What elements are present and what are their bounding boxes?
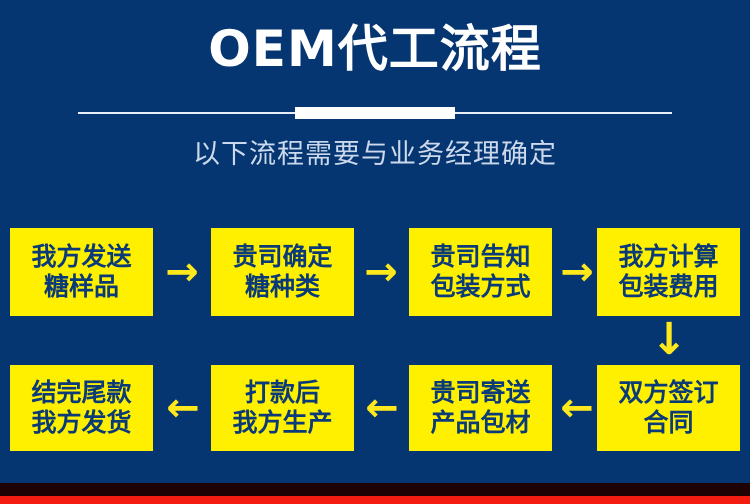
flow-step-4-line2: 包装费用 [618,272,718,302]
arrow-right-icon: → [353,252,409,292]
flow-step-7: 打款后 我方生产 [211,365,354,451]
flow-step-6-line2: 产品包材 [430,408,530,438]
flow-step-4: 我方计算 包装费用 [597,228,740,316]
bottom-dark-band [0,483,750,496]
flow-step-6: 贵司寄送 产品包材 [409,365,552,451]
flow-step-3-line2: 包装方式 [430,272,530,302]
flow-step-8: 结完尾款 我方发货 [10,365,153,451]
arrow-down-icon: ↓ [641,318,697,362]
arrow-left-icon: ← [354,388,410,428]
flow-step-3: 贵司告知 包装方式 [409,228,552,316]
bottom-red-band [0,496,750,504]
flow-step-1-line2: 糖样品 [44,272,119,302]
arrow-left-icon: ← [155,388,211,428]
flow-step-8-line1: 结完尾款 [31,378,131,408]
flow-step-5: 双方签订 合同 [597,365,740,451]
flow-step-7-line1: 打款后 [245,378,320,408]
flow-step-7-line2: 我方生产 [232,408,332,438]
flow-step-5-line2: 合同 [643,408,693,438]
arrow-right-icon: → [154,252,210,292]
divider-accent-bar [295,107,455,119]
flow-step-1-line1: 我方发送 [31,242,131,272]
flow-step-2-line1: 贵司确定 [232,242,332,272]
flow-step-1: 我方发送 糖样品 [10,228,153,316]
flow-step-8-line2: 我方发货 [31,408,131,438]
flow-step-6-line1: 贵司寄送 [430,378,530,408]
flow-step-3-line1: 贵司告知 [430,242,530,272]
page-title: OEM代工流程 [0,18,750,80]
flow-step-5-line1: 双方签订 [618,378,718,408]
flow-step-4-line1: 我方计算 [618,242,718,272]
flow-step-2-line2: 糖种类 [245,272,320,302]
flow-step-2: 贵司确定 糖种类 [211,228,354,316]
oem-process-infographic: OEM代工流程 以下流程需要与业务经理确定 我方发送 糖样品 → 贵司确定 糖种… [0,0,750,504]
page-subtitle: 以下流程需要与业务经理确定 [0,133,750,177]
